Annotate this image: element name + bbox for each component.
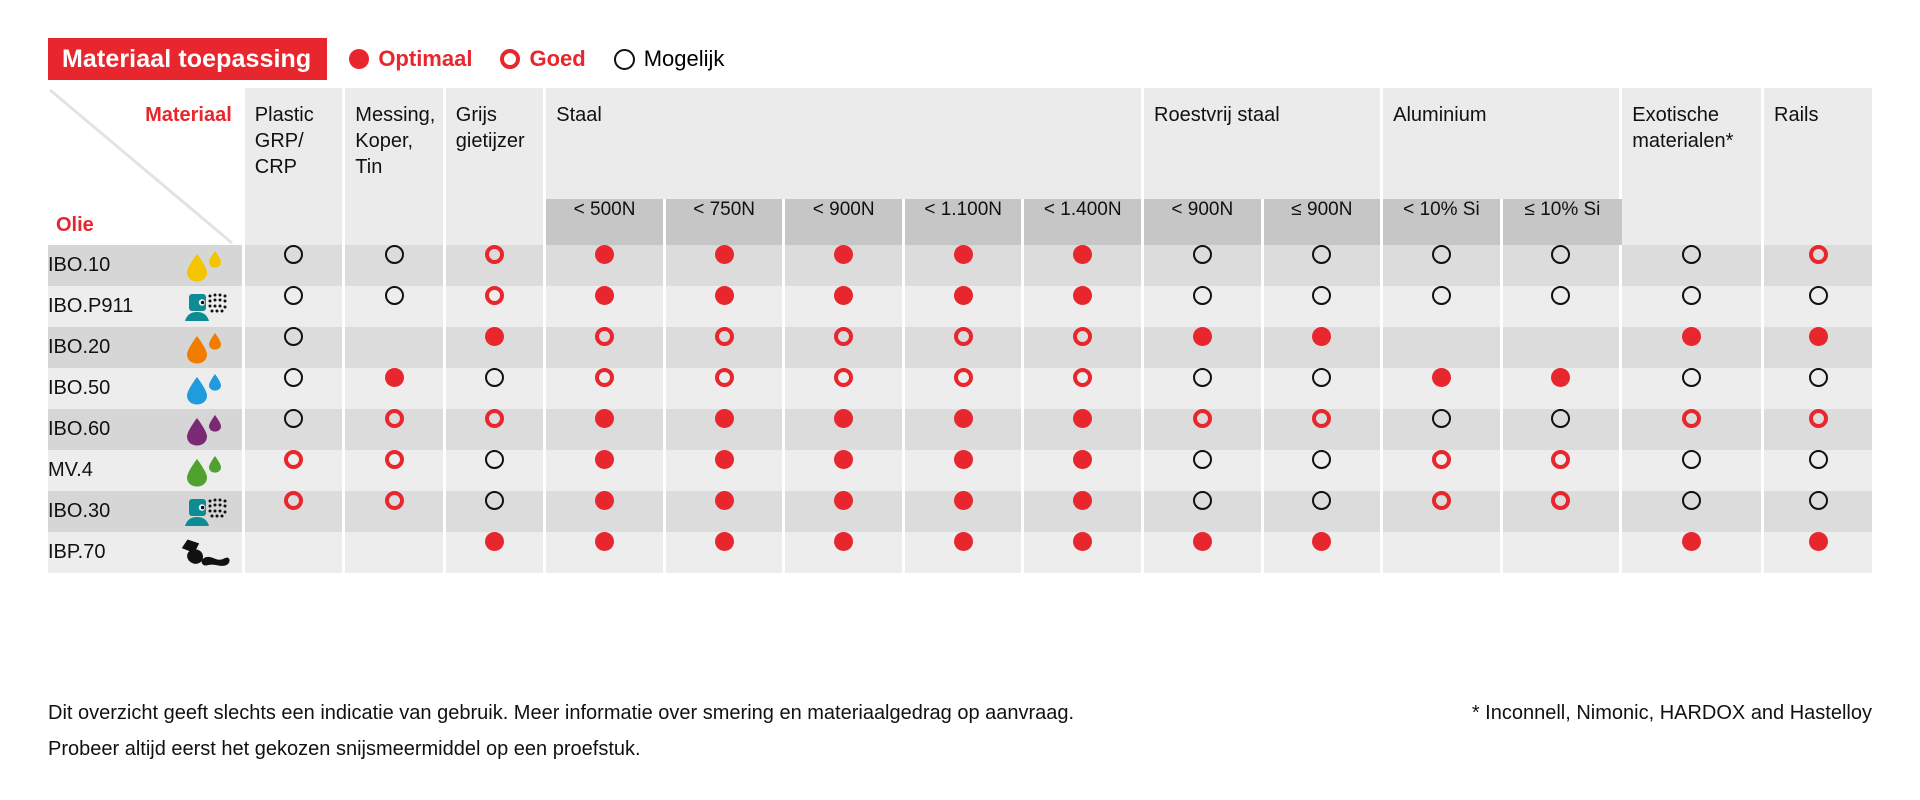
sub-header-rvs-900-lt: < 900N xyxy=(1144,199,1264,245)
cell-ibo-10-col12 xyxy=(1622,245,1764,286)
filled-circle-icon xyxy=(595,286,614,305)
cell-ibo-p911-col3 xyxy=(546,286,666,327)
black-grease-paste-icon xyxy=(174,536,234,570)
row-label-mv-4: MV.4 xyxy=(48,450,245,491)
cell-ibo-60-col1 xyxy=(345,409,446,450)
filled-circle-icon xyxy=(1312,532,1331,551)
cell-mv-4-col0 xyxy=(245,450,346,491)
open-circle-icon xyxy=(284,409,303,428)
open-circle-icon xyxy=(614,49,635,70)
row-label-ibp-70: IBP.70 xyxy=(48,532,245,573)
cell-ibo-20-col9 xyxy=(1264,327,1384,368)
cell-ibp-70-col8 xyxy=(1144,532,1264,573)
cell-mv-4-col6 xyxy=(905,450,1025,491)
cell-ibo-10-col2 xyxy=(446,245,547,286)
row-label-text: IBO.30 xyxy=(48,500,110,523)
legend-label-goed: Goed xyxy=(529,46,585,72)
cell-ibp-70-col13 xyxy=(1764,532,1872,573)
cell-ibo-30-col12 xyxy=(1622,491,1764,532)
ring-circle-icon xyxy=(284,491,303,510)
ring-circle-icon xyxy=(485,245,504,264)
filled-circle-icon xyxy=(954,286,973,305)
cell-ibo-p911-col10 xyxy=(1383,286,1503,327)
row-label-ibo-60: IBO.60 xyxy=(48,409,245,450)
row-label-ibo-20: IBO.20 xyxy=(48,327,245,368)
row-label-text: IBO.60 xyxy=(48,418,110,441)
filled-circle-icon xyxy=(954,245,973,264)
filled-circle-icon xyxy=(1073,409,1092,428)
cell-mv-4-col10 xyxy=(1383,450,1503,491)
cell-ibo-50-col1 xyxy=(345,368,446,409)
group-header-staal-label: Staal xyxy=(556,102,602,128)
cell-ibo-60-col6 xyxy=(905,409,1025,450)
filled-circle-icon xyxy=(1073,286,1092,305)
cell-ibo-50-col3 xyxy=(546,368,666,409)
filled-circle-icon xyxy=(715,245,734,264)
ring-circle-icon xyxy=(485,286,504,305)
open-circle-icon xyxy=(1682,450,1701,469)
ring-circle-icon xyxy=(1809,245,1828,264)
cell-ibp-70-col2 xyxy=(446,532,547,573)
cell-ibo-p911-col0 xyxy=(245,286,346,327)
cell-ibo-20-col1 xyxy=(345,327,446,368)
filled-circle-icon xyxy=(485,327,504,346)
group-header-gietijzer: Grijsgietijzer xyxy=(446,88,547,245)
green-oil-drop-icon xyxy=(174,454,234,488)
cell-ibo-p911-col13 xyxy=(1764,286,1872,327)
filled-circle-icon xyxy=(834,450,853,469)
ring-circle-icon xyxy=(595,327,614,346)
cell-ibo-60-col0 xyxy=(245,409,346,450)
cell-mv-4-col5 xyxy=(785,450,905,491)
cell-ibo-30-col1 xyxy=(345,491,446,532)
cell-ibo-p911-col8 xyxy=(1144,286,1264,327)
ring-circle-icon xyxy=(500,49,520,69)
cell-ibo-p911-col12 xyxy=(1622,286,1764,327)
table-row: IBO.50 xyxy=(48,368,1872,409)
cell-ibo-50-col9 xyxy=(1264,368,1384,409)
filled-circle-icon xyxy=(715,286,734,305)
cell-ibo-p911-col6 xyxy=(905,286,1025,327)
sub-header-staal-1100: < 1.100N xyxy=(905,199,1025,245)
table-row: IBO.20 xyxy=(48,327,1872,368)
cell-mv-4-col8 xyxy=(1144,450,1264,491)
teal-spray-can-icon xyxy=(174,290,234,324)
filled-circle-icon xyxy=(834,491,853,510)
filled-circle-icon xyxy=(595,409,614,428)
cell-ibo-50-col8 xyxy=(1144,368,1264,409)
open-circle-icon xyxy=(1312,286,1331,305)
corner-cell: Materiaal Olie xyxy=(48,88,245,245)
page-title: Materiaal toepassing xyxy=(48,38,327,80)
sub-header-staal-750: < 750N xyxy=(666,199,786,245)
cell-ibp-70-col7 xyxy=(1024,532,1144,573)
ring-circle-icon xyxy=(385,450,404,469)
ring-circle-icon xyxy=(1073,327,1092,346)
cell-ibo-10-col10 xyxy=(1383,245,1503,286)
cell-mv-4-col3 xyxy=(546,450,666,491)
filled-circle-icon xyxy=(1073,491,1092,510)
cell-ibo-10-col9 xyxy=(1264,245,1384,286)
ring-circle-icon xyxy=(385,491,404,510)
open-circle-icon xyxy=(1193,450,1212,469)
sub-header-staal-1400: < 1.400N xyxy=(1024,199,1144,245)
cell-ibo-10-col6 xyxy=(905,245,1025,286)
row-label-ibo-30: IBO.30 xyxy=(48,491,245,532)
cell-ibp-70-col11 xyxy=(1503,532,1623,573)
compatibility-table: Materiaal Olie PlasticGRP/CRP Messing,Ko… xyxy=(48,88,1872,573)
ring-circle-icon xyxy=(834,368,853,387)
filled-circle-icon xyxy=(834,286,853,305)
table-row: IBO.P911 xyxy=(48,286,1872,327)
cell-ibo-30-col2 xyxy=(446,491,547,532)
legend-label-mogelijk: Mogelijk xyxy=(644,46,725,72)
open-circle-icon xyxy=(1809,491,1828,510)
cell-mv-4-col11 xyxy=(1503,450,1623,491)
open-circle-icon xyxy=(385,245,404,264)
cell-ibo-30-col7 xyxy=(1024,491,1144,532)
cell-ibo-60-col7 xyxy=(1024,409,1144,450)
table-row: IBO.60 xyxy=(48,409,1872,450)
cell-mv-4-col1 xyxy=(345,450,446,491)
cell-ibo-20-col13 xyxy=(1764,327,1872,368)
open-circle-icon xyxy=(1551,286,1570,305)
filled-circle-icon xyxy=(349,49,369,69)
cell-ibp-70-col10 xyxy=(1383,532,1503,573)
cell-ibo-20-col7 xyxy=(1024,327,1144,368)
table-group-header-row: Materiaal Olie PlasticGRP/CRP Messing,Ko… xyxy=(48,88,1872,199)
cell-ibo-p911-col7 xyxy=(1024,286,1144,327)
cell-ibo-20-col0 xyxy=(245,327,346,368)
filled-circle-icon xyxy=(1809,327,1828,346)
cell-ibo-p911-col5 xyxy=(785,286,905,327)
ring-circle-icon xyxy=(1312,409,1331,428)
cell-ibo-50-col10 xyxy=(1383,368,1503,409)
ring-circle-icon xyxy=(715,327,734,346)
cell-ibo-30-col8 xyxy=(1144,491,1264,532)
open-circle-icon xyxy=(1682,286,1701,305)
sub-header-staal-500: < 500N xyxy=(546,199,666,245)
ring-circle-icon xyxy=(1551,450,1570,469)
group-header-roestvrij-staal: Roestvrij staal xyxy=(1144,88,1383,199)
ring-circle-icon xyxy=(954,327,973,346)
columns-axis-label: Materiaal xyxy=(145,104,232,127)
cell-ibp-70-col1 xyxy=(345,532,446,573)
filled-circle-icon xyxy=(595,245,614,264)
open-circle-icon xyxy=(1551,409,1570,428)
cell-ibo-10-col5 xyxy=(785,245,905,286)
blue-oil-drop-icon xyxy=(174,372,234,406)
cell-ibo-50-col5 xyxy=(785,368,905,409)
filled-circle-icon xyxy=(1682,327,1701,346)
footer-line-1: Dit overzicht geeft slechts een indicati… xyxy=(48,700,1074,726)
cell-ibo-60-col12 xyxy=(1622,409,1764,450)
legend-label-optimaal: Optimaal xyxy=(378,46,472,72)
cell-ibo-20-col3 xyxy=(546,327,666,368)
group-header-staal: Staal xyxy=(546,88,1144,199)
cell-mv-4-col4 xyxy=(666,450,786,491)
cell-ibo-50-col2 xyxy=(446,368,547,409)
cell-ibo-20-col2 xyxy=(446,327,547,368)
filled-circle-icon xyxy=(954,491,973,510)
cell-mv-4-col2 xyxy=(446,450,547,491)
ring-circle-icon xyxy=(1682,409,1701,428)
row-label-text: IBO.50 xyxy=(48,377,110,400)
ring-circle-icon xyxy=(284,450,303,469)
legend-item-goed: Goed xyxy=(500,46,585,72)
cell-ibo-60-col9 xyxy=(1264,409,1384,450)
open-circle-icon xyxy=(1809,368,1828,387)
filled-circle-icon xyxy=(715,409,734,428)
open-circle-icon xyxy=(284,286,303,305)
group-header-plastic-label: PlasticGRP/CRP xyxy=(255,102,314,180)
group-header-roestvrij-staal-label: Roestvrij staal xyxy=(1154,102,1280,128)
open-circle-icon xyxy=(1682,368,1701,387)
open-circle-icon xyxy=(1809,450,1828,469)
cell-ibo-30-col6 xyxy=(905,491,1025,532)
group-header-messing-label: Messing,Koper,Tin xyxy=(355,102,435,180)
cell-ibo-50-col7 xyxy=(1024,368,1144,409)
cell-ibo-50-col13 xyxy=(1764,368,1872,409)
open-circle-icon xyxy=(1682,245,1701,264)
row-label-text: IBO.10 xyxy=(48,254,110,277)
open-circle-icon xyxy=(1432,409,1451,428)
material-application-chart: Materiaal toepassing Optimaal Goed Mogel… xyxy=(0,0,1920,800)
filled-circle-icon xyxy=(485,532,504,551)
cell-ibo-60-col2 xyxy=(446,409,547,450)
row-label-text: MV.4 xyxy=(48,459,93,482)
cell-ibo-20-col10 xyxy=(1383,327,1503,368)
ring-circle-icon xyxy=(485,409,504,428)
cell-ibo-30-col11 xyxy=(1503,491,1623,532)
legend-bar: Materiaal toepassing Optimaal Goed Mogel… xyxy=(48,38,724,80)
open-circle-icon xyxy=(1551,245,1570,264)
open-circle-icon xyxy=(1312,368,1331,387)
row-label-text: IBP.70 xyxy=(48,541,105,564)
cell-ibo-50-col12 xyxy=(1622,368,1764,409)
cell-ibo-30-col5 xyxy=(785,491,905,532)
open-circle-icon xyxy=(284,245,303,264)
cell-ibo-60-col4 xyxy=(666,409,786,450)
cell-ibo-60-col10 xyxy=(1383,409,1503,450)
cell-ibo-30-col0 xyxy=(245,491,346,532)
filled-circle-icon xyxy=(1073,245,1092,264)
group-header-messing: Messing,Koper,Tin xyxy=(345,88,446,245)
cell-ibo-20-col6 xyxy=(905,327,1025,368)
sub-header-staal-900: < 900N xyxy=(785,199,905,245)
open-circle-icon xyxy=(485,450,504,469)
table-row: IBO.30 xyxy=(48,491,1872,532)
cell-ibo-50-col11 xyxy=(1503,368,1623,409)
group-header-exotische-label: Exotischematerialen* xyxy=(1632,102,1733,154)
ring-circle-icon xyxy=(385,409,404,428)
row-label-text: IBO.20 xyxy=(48,336,110,359)
ring-circle-icon xyxy=(834,327,853,346)
group-header-rails-label: Rails xyxy=(1774,102,1818,128)
open-circle-icon xyxy=(284,368,303,387)
table-row: MV.4 xyxy=(48,450,1872,491)
rows-axis-label: Olie xyxy=(56,214,94,237)
filled-circle-icon xyxy=(595,450,614,469)
cell-ibo-p911-col1 xyxy=(345,286,446,327)
filled-circle-icon xyxy=(954,532,973,551)
filled-circle-icon xyxy=(1312,327,1331,346)
open-circle-icon xyxy=(1193,491,1212,510)
cell-ibo-60-col13 xyxy=(1764,409,1872,450)
teal-spray-can-icon xyxy=(174,495,234,529)
open-circle-icon xyxy=(1432,245,1451,264)
group-header-plastic: PlasticGRP/CRP xyxy=(245,88,346,245)
cell-ibo-30-col4 xyxy=(666,491,786,532)
cell-ibo-60-col8 xyxy=(1144,409,1264,450)
filled-circle-icon xyxy=(1193,532,1212,551)
cell-ibo-30-col3 xyxy=(546,491,666,532)
cell-ibo-60-col3 xyxy=(546,409,666,450)
open-circle-icon xyxy=(385,286,404,305)
cell-ibo-30-col9 xyxy=(1264,491,1384,532)
filled-circle-icon xyxy=(1073,532,1092,551)
group-header-rails: Rails xyxy=(1764,88,1872,245)
ring-circle-icon xyxy=(715,368,734,387)
filled-circle-icon xyxy=(595,491,614,510)
cell-ibo-20-col8 xyxy=(1144,327,1264,368)
footer: Dit overzicht geeft slechts een indicati… xyxy=(48,700,1872,772)
cell-ibo-60-col5 xyxy=(785,409,905,450)
ring-circle-icon xyxy=(1193,409,1212,428)
cell-ibo-50-col6 xyxy=(905,368,1025,409)
legend: Optimaal Goed Mogelijk xyxy=(349,38,724,80)
row-label-ibo-10: IBO.10 xyxy=(48,245,245,286)
filled-circle-icon xyxy=(1073,450,1092,469)
cell-ibo-20-col12 xyxy=(1622,327,1764,368)
cell-ibo-10-col1 xyxy=(345,245,446,286)
ring-circle-icon xyxy=(1073,368,1092,387)
group-header-gietijzer-label: Grijsgietijzer xyxy=(456,102,525,154)
cell-ibp-70-col5 xyxy=(785,532,905,573)
filled-circle-icon xyxy=(1809,532,1828,551)
ring-circle-icon xyxy=(1432,491,1451,510)
row-label-ibo-50: IBO.50 xyxy=(48,368,245,409)
cell-ibo-10-col13 xyxy=(1764,245,1872,286)
ring-circle-icon xyxy=(1551,491,1570,510)
footer-line-2: Probeer altijd eerst het gekozen snijsme… xyxy=(48,736,1074,762)
filled-circle-icon xyxy=(954,450,973,469)
cell-mv-4-col7 xyxy=(1024,450,1144,491)
table-row: IBP.70 xyxy=(48,532,1872,573)
footer-note: * Inconnell, Nimonic, HARDOX and Hastell… xyxy=(1472,700,1872,726)
sub-header-rvs-900-le: ≤ 900N xyxy=(1264,199,1384,245)
cell-ibo-p911-col9 xyxy=(1264,286,1384,327)
cell-ibo-p911-col2 xyxy=(446,286,547,327)
open-circle-icon xyxy=(1432,286,1451,305)
cell-ibp-70-col0 xyxy=(245,532,346,573)
ring-circle-icon xyxy=(1432,450,1451,469)
cell-ibo-10-col4 xyxy=(666,245,786,286)
filled-circle-icon xyxy=(595,532,614,551)
yellow-oil-drop-icon xyxy=(174,249,234,283)
legend-item-optimaal: Optimaal xyxy=(349,46,472,72)
group-header-exotische: Exotischematerialen* xyxy=(1622,88,1764,245)
sub-header-alu-10si-lt: < 10% Si xyxy=(1383,199,1503,245)
sub-header-alu-10si-le: ≤ 10% Si xyxy=(1503,199,1623,245)
open-circle-icon xyxy=(1682,491,1701,510)
cell-ibo-60-col11 xyxy=(1503,409,1623,450)
row-label-text: IBO.P911 xyxy=(48,295,133,318)
cell-ibp-70-col12 xyxy=(1622,532,1764,573)
cell-ibo-30-col10 xyxy=(1383,491,1503,532)
cell-ibp-70-col4 xyxy=(666,532,786,573)
footer-disclaimer: Dit overzicht geeft slechts een indicati… xyxy=(48,700,1074,772)
ring-circle-icon xyxy=(595,368,614,387)
filled-circle-icon xyxy=(385,368,404,387)
open-circle-icon xyxy=(485,368,504,387)
cell-mv-4-col13 xyxy=(1764,450,1872,491)
open-circle-icon xyxy=(284,327,303,346)
cell-ibo-20-col5 xyxy=(785,327,905,368)
row-label-ibo-p911: IBO.P911 xyxy=(48,286,245,327)
filled-circle-icon xyxy=(834,532,853,551)
cell-ibo-10-col0 xyxy=(245,245,346,286)
cell-ibo-p911-col11 xyxy=(1503,286,1623,327)
cell-ibp-70-col6 xyxy=(905,532,1025,573)
filled-circle-icon xyxy=(1682,532,1701,551)
filled-circle-icon xyxy=(834,245,853,264)
legend-item-mogelijk: Mogelijk xyxy=(614,46,725,72)
table-body: IBO.10IBO.P911IBO.20IBO.50IBO.60MV.4IBO.… xyxy=(48,245,1872,573)
cell-ibp-70-col9 xyxy=(1264,532,1384,573)
cell-mv-4-col9 xyxy=(1264,450,1384,491)
filled-circle-icon xyxy=(715,450,734,469)
filled-circle-icon xyxy=(715,532,734,551)
ring-circle-icon xyxy=(1809,409,1828,428)
filled-circle-icon xyxy=(954,409,973,428)
open-circle-icon xyxy=(1809,286,1828,305)
group-header-aluminium: Aluminium xyxy=(1383,88,1622,199)
cell-ibo-p911-col4 xyxy=(666,286,786,327)
cell-ibo-50-col0 xyxy=(245,368,346,409)
open-circle-icon xyxy=(485,491,504,510)
cell-ibo-10-col3 xyxy=(546,245,666,286)
cell-ibo-10-col7 xyxy=(1024,245,1144,286)
open-circle-icon xyxy=(1312,491,1331,510)
purple-oil-drop-icon xyxy=(174,413,234,447)
ring-circle-icon xyxy=(954,368,973,387)
filled-circle-icon xyxy=(834,409,853,428)
open-circle-icon xyxy=(1193,368,1212,387)
filled-circle-icon xyxy=(1193,327,1212,346)
cell-ibo-10-col11 xyxy=(1503,245,1623,286)
filled-circle-icon xyxy=(715,491,734,510)
open-circle-icon xyxy=(1312,245,1331,264)
cell-ibo-30-col13 xyxy=(1764,491,1872,532)
filled-circle-icon xyxy=(1432,368,1451,387)
cell-ibo-20-col11 xyxy=(1503,327,1623,368)
cell-ibp-70-col3 xyxy=(546,532,666,573)
table-row: IBO.10 xyxy=(48,245,1872,286)
group-header-aluminium-label: Aluminium xyxy=(1393,102,1486,128)
cell-mv-4-col12 xyxy=(1622,450,1764,491)
cell-ibo-50-col4 xyxy=(666,368,786,409)
cell-ibo-10-col8 xyxy=(1144,245,1264,286)
open-circle-icon xyxy=(1193,286,1212,305)
open-circle-icon xyxy=(1312,450,1331,469)
open-circle-icon xyxy=(1193,245,1212,264)
cell-ibo-20-col4 xyxy=(666,327,786,368)
orange-oil-drop-icon xyxy=(174,331,234,365)
filled-circle-icon xyxy=(1551,368,1570,387)
